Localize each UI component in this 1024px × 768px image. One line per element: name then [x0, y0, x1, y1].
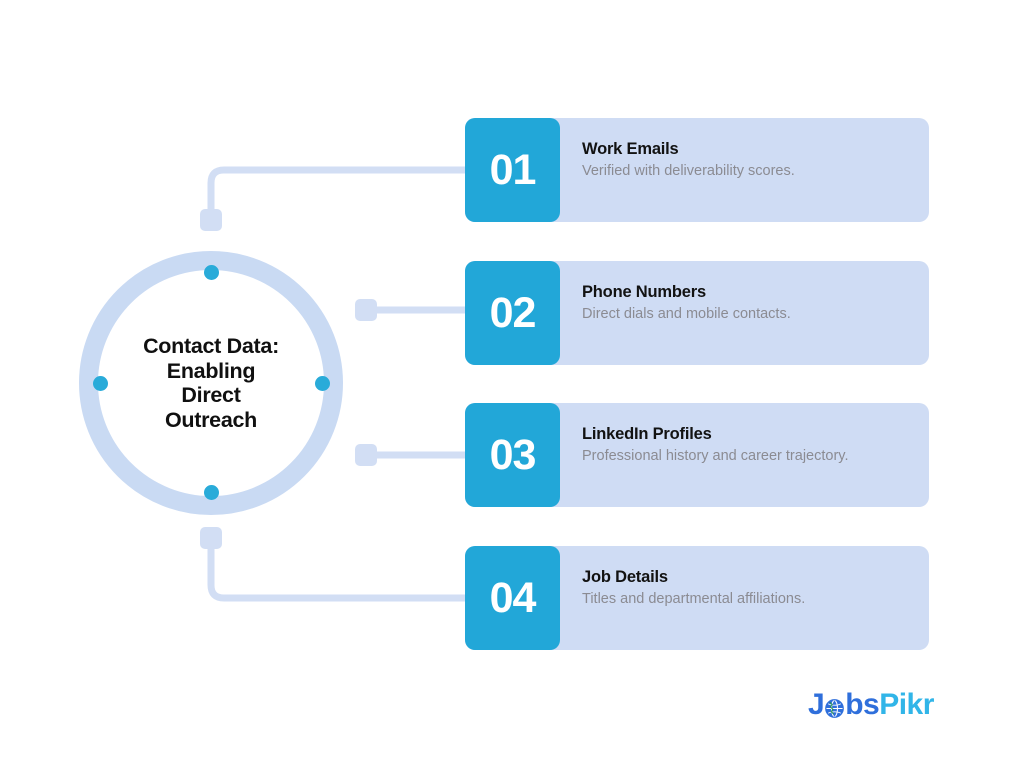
connector-path-4	[211, 545, 470, 598]
hub-dot-bottom	[204, 485, 219, 500]
info-card-1[interactable]: 01 Work Emails Verified with deliverabil…	[465, 118, 929, 222]
hub-dot-left	[93, 376, 108, 391]
hub-dot-right	[315, 376, 330, 391]
card-number-1: 01	[465, 118, 560, 222]
card-description-2: Direct dials and mobile contacts.	[582, 305, 832, 324]
card-body-1: Work Emails Verified with deliverability…	[560, 118, 929, 222]
card-description-1: Verified with deliverability scores.	[582, 162, 832, 181]
card-number-2: 02	[465, 261, 560, 365]
globe-icon	[825, 699, 844, 718]
connector-node-1	[200, 209, 222, 231]
card-description-3: Professional history and career trajecto…	[582, 447, 852, 466]
connector-path-1	[211, 170, 470, 222]
jobspikr-logo[interactable]: J bs Pikr	[808, 688, 934, 722]
card-description-4: Titles and departmental affiliations.	[582, 590, 832, 609]
card-title-2: Phone Numbers	[582, 282, 929, 302]
infographic-canvas: Contact Data: Enabling Direct Outreach 0…	[0, 0, 1024, 768]
info-card-2[interactable]: 02 Phone Numbers Direct dials and mobile…	[465, 261, 929, 365]
info-card-4[interactable]: 04 Job Details Titles and departmental a…	[465, 546, 929, 650]
card-title-1: Work Emails	[582, 139, 929, 159]
center-hub: Contact Data: Enabling Direct Outreach	[79, 251, 343, 515]
logo-text-j: J	[808, 688, 824, 722]
connector-node-2	[355, 299, 377, 321]
card-body-2: Phone Numbers Direct dials and mobile co…	[560, 261, 929, 365]
card-title-4: Job Details	[582, 567, 929, 587]
info-card-3[interactable]: 03 LinkedIn Profiles Professional histor…	[465, 403, 929, 507]
card-title-3: LinkedIn Profiles	[582, 424, 929, 444]
card-body-4: Job Details Titles and departmental affi…	[560, 546, 929, 650]
logo-text-pikr: Pikr	[879, 688, 934, 722]
card-number-3: 03	[465, 403, 560, 507]
hub-dot-top	[204, 265, 219, 280]
card-body-3: LinkedIn Profiles Professional history a…	[560, 403, 929, 507]
hub-title: Contact Data: Enabling Direct Outreach	[121, 334, 301, 432]
logo-text-bs: bs	[845, 688, 879, 722]
connector-node-3	[355, 444, 377, 466]
card-number-4: 04	[465, 546, 560, 650]
connector-node-4	[200, 527, 222, 549]
